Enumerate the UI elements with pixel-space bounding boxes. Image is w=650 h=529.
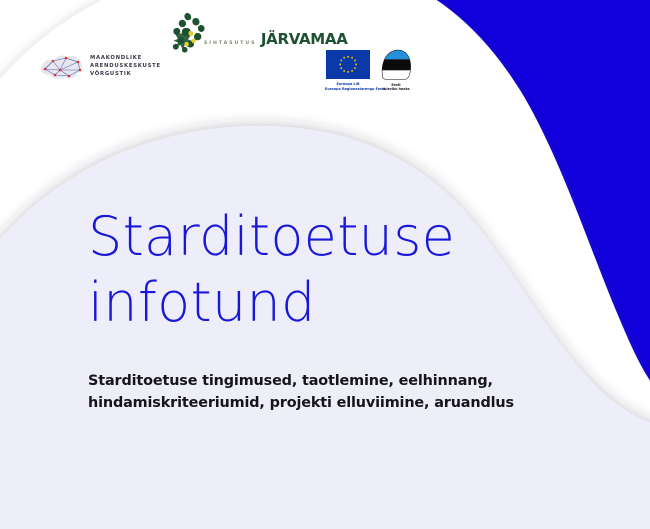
mak-line-2: ARENDUSKESKUSTE	[90, 63, 161, 69]
ee-logo-caption: Eestituleviku heaks	[378, 83, 414, 92]
jarvamaa-wordmark: SIHTASUTUS JÄRVAMAA	[204, 31, 348, 49]
slide-content: Starditoetuse infotund Starditoetuse tin…	[88, 204, 588, 414]
jarvamaa-wordmark-text: JÄRVAMAA	[261, 30, 348, 48]
eu-flag-icon	[326, 50, 370, 79]
partner-logo-strip: MAAKONDLIKEARENDUSKESKUSTEVÕRGUSTIK	[0, 0, 650, 110]
estonian-flag-cap-icon	[379, 48, 413, 81]
eu-caption-line-1: Euroopa Liit	[336, 82, 359, 86]
eu-caption-line-2: Euroopa Regionaalarengu Fond	[325, 87, 385, 91]
maakondlike-arenduskeskuste-vorgustik-logo: MAAKONDLIKEARENDUSKESKUSTEVÕRGUSTIK	[38, 48, 161, 84]
eesti-tuleviku-heaks-logo: Eestituleviku heaks	[378, 48, 414, 92]
eu-logo-caption: Euroopa LiitEuroopa Regionaalarengu Fond	[325, 82, 371, 91]
european-union-logo: Euroopa LiitEuroopa Regionaalarengu Fond	[325, 50, 371, 91]
title-slide: MAAKONDLIKEARENDUSKESKUSTEVÕRGUSTIK	[0, 0, 650, 529]
mak-line-3: VÕRGUSTIK	[90, 71, 132, 77]
mak-wordmark: MAAKONDLIKEARENDUSKESKUSTEVÕRGUSTIK	[90, 54, 161, 79]
slide-subtitle: Starditoetuse tingimused, taotlemine, ee…	[88, 370, 540, 414]
network-map-icon	[38, 48, 84, 84]
ee-caption-line-2: tuleviku heaks	[382, 87, 409, 91]
jarvamaa-eyebrow: SIHTASUTUS	[204, 41, 256, 46]
ee-caption-line-1: Eesti	[391, 83, 400, 87]
page-title: Starditoetuse infotund	[88, 204, 588, 336]
mak-line-1: MAAKONDLIKE	[90, 55, 142, 61]
sihtasutus-jarvamaa-logo: SIHTASUTUS JÄRVAMAA	[168, 11, 348, 57]
